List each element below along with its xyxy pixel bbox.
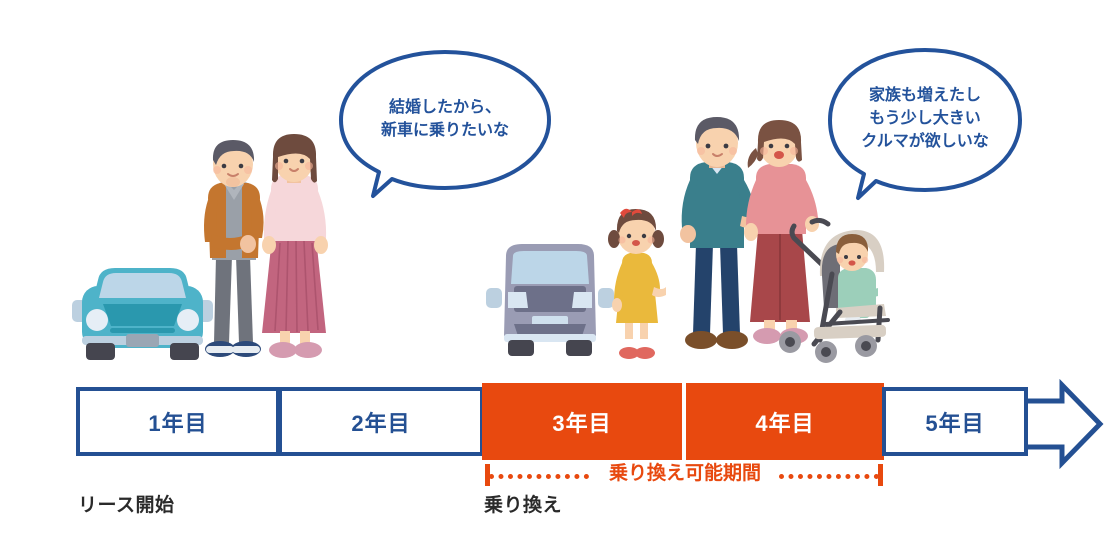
segment-label-year-4: 4年目 (686, 383, 884, 460)
timeline-arrow-head (1022, 383, 1102, 465)
range-tick-end (878, 464, 883, 486)
caption-switch: 乗り換え (484, 490, 562, 517)
speech-bubble-couple: 結婚したから、 新車に乗りたいな (333, 44, 557, 204)
segment-label-year-5: 5年目 (886, 391, 1024, 452)
stroller-illustration (780, 216, 898, 366)
infographic-canvas: 結婚したから、 新車に乗りたいな 家族も増えたし もう少し大きい クルマが欲しい… (0, 0, 1116, 545)
timeline-segment-year-1[interactable]: 1年目 (76, 387, 280, 456)
segment-label-year-2: 2年目 (282, 391, 480, 452)
girl-illustration (608, 205, 666, 365)
minivan-illustration (486, 240, 614, 366)
speech-bubble-family: 家族も増えたし もう少し大きい クルマが欲しいな (822, 42, 1028, 204)
bubble-couple-text: 結婚したから、 新車に乗りたいな (333, 96, 557, 142)
range-dotted-line-right (779, 474, 879, 479)
caption-lease-start: リース開始 (78, 490, 175, 517)
timeline-segment-year-4[interactable]: 4年目 (686, 383, 884, 460)
range-label: 乗り換え可能期間 (595, 458, 775, 485)
timeline-segment-year-3[interactable]: 3年目 (482, 383, 682, 460)
timeline-segment-year-5[interactable]: 5年目 (882, 387, 1028, 456)
compact-car-illustration (70, 258, 215, 366)
timeline-segment-year-2[interactable]: 2年目 (278, 387, 484, 456)
bubble-family-text: 家族も増えたし もう少し大きい クルマが欲しいな (822, 84, 1028, 154)
lease-timeline: 1年目 2年目 3年目 4年目 5年目 (76, 383, 1100, 465)
range-dotted-line-left (489, 474, 589, 479)
segment-label-year-3: 3年目 (482, 383, 682, 460)
woman-illustration (256, 133, 332, 367)
segment-label-year-1: 1年目 (80, 391, 276, 452)
exchange-window-range: 乗り換え可能期間 (485, 462, 883, 492)
